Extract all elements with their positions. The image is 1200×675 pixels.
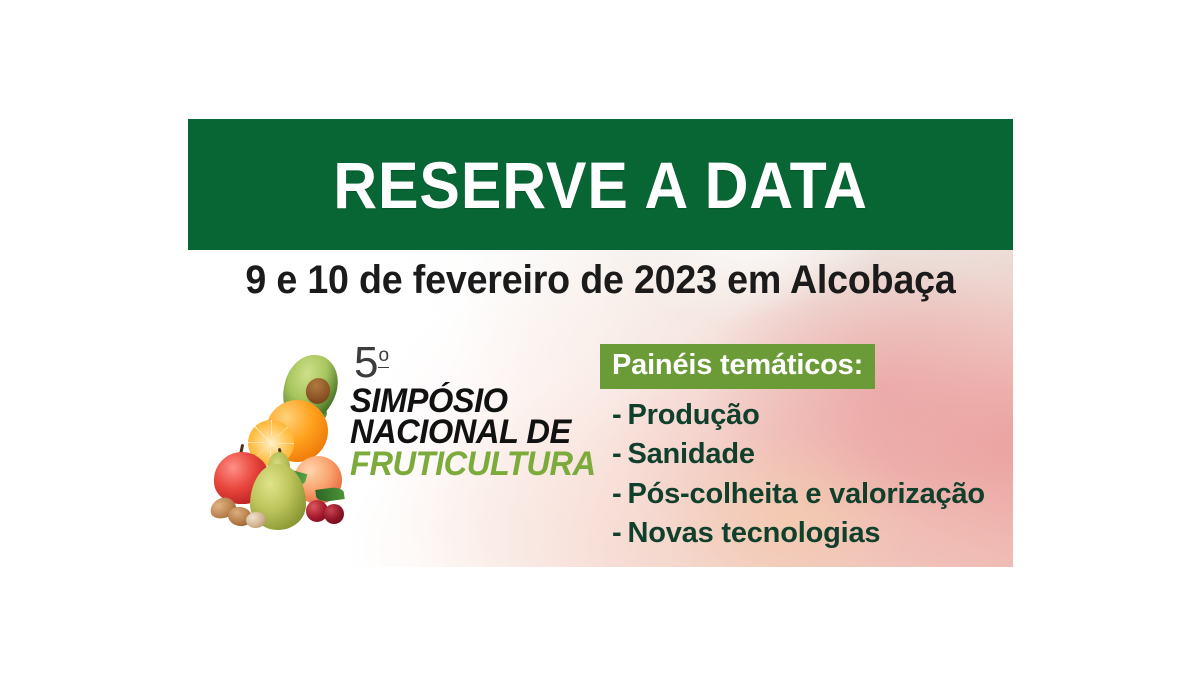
event-logo: 5o SIMPÓSIO NACIONAL DE FRUTICULTURA bbox=[210, 342, 630, 542]
poster-content-row: 5o SIMPÓSIO NACIONAL DE FRUTICULTURA Pai… bbox=[188, 330, 1013, 567]
list-item-label: Produção bbox=[627, 399, 759, 431]
logo-wordmark: 5o SIMPÓSIO NACIONAL DE FRUTICULTURA bbox=[350, 342, 630, 481]
list-item: -Pós-colheita e valorização bbox=[600, 475, 1000, 514]
thematic-panels-list: -Produção -Sanidade -Pós-colheita e valo… bbox=[600, 396, 1000, 554]
logo-line-nacional-de: NACIONAL DE bbox=[350, 417, 619, 448]
logo-edition-suffix: o bbox=[378, 345, 389, 368]
headline-text: RESERVE A DATA bbox=[333, 152, 868, 218]
thematic-panels-block: Painéis temáticos: -Produção -Sanidade -… bbox=[600, 344, 1000, 554]
headline-banner: RESERVE A DATA bbox=[188, 119, 1013, 250]
fruit-cluster-image bbox=[210, 352, 342, 527]
thematic-panels-heading: Painéis temáticos: bbox=[600, 344, 875, 389]
list-item-label: Sanidade bbox=[627, 438, 754, 470]
bullet-dash: - bbox=[612, 399, 621, 431]
logo-edition-number: 5 bbox=[354, 338, 378, 387]
event-poster: RESERVE A DATA 9 e 10 de fevereiro de 20… bbox=[0, 0, 1200, 675]
list-item: -Produção bbox=[600, 396, 1000, 435]
event-date-location: 9 e 10 de fevereiro de 2023 em Alcobaça bbox=[213, 258, 989, 302]
list-item-label: Pós-colheita e valorização bbox=[627, 478, 984, 510]
list-item-label: Novas tecnologias bbox=[627, 517, 880, 549]
bullet-dash: - bbox=[612, 517, 621, 549]
logo-line-fruticultura: FRUTICULTURA bbox=[350, 448, 619, 481]
list-item: -Sanidade bbox=[600, 435, 1000, 474]
list-item: -Novas tecnologias bbox=[600, 514, 1000, 553]
logo-edition-ordinal: 5o bbox=[354, 342, 630, 384]
bullet-dash: - bbox=[612, 438, 621, 470]
bullet-dash: - bbox=[612, 478, 621, 510]
cherries-icon bbox=[324, 504, 344, 524]
